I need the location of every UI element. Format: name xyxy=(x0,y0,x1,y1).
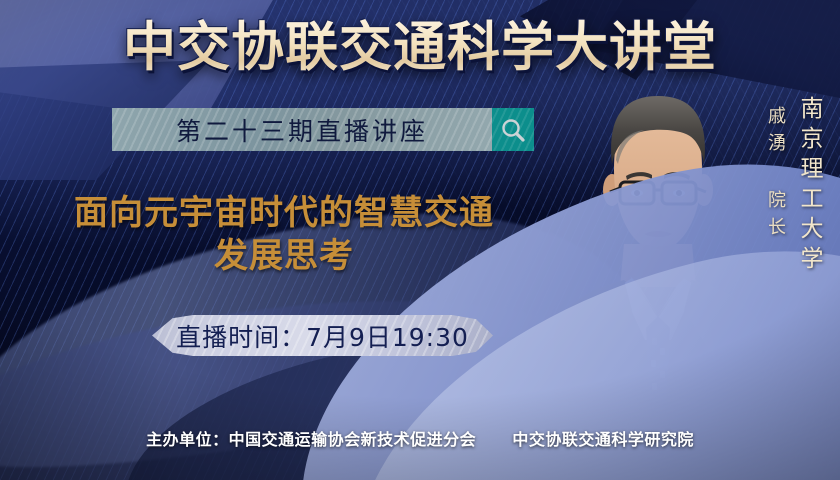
search-icon[interactable] xyxy=(492,108,534,151)
live-time-badge: 直播时间：7月9日19:30 xyxy=(152,315,493,356)
episode-banner-body: 第二十三期直播讲座 xyxy=(112,108,492,151)
episode-label: 第二十三期直播讲座 xyxy=(176,112,428,148)
organizer-primary: 主办单位：中国交通运输协会新技术促进分会 xyxy=(146,430,476,449)
lecture-title: 面向元宇宙时代的智慧交通 发展思考 xyxy=(24,192,544,278)
lecture-title-line2: 发展思考 xyxy=(24,235,544,278)
episode-banner: 第二十三期直播讲座 xyxy=(112,108,534,151)
page-title: 中交协联交通科学大讲堂 xyxy=(0,17,840,79)
live-time-text: 直播时间：7月9日19:30 xyxy=(176,318,469,354)
live-lecture-poster: 中交协联交通科学大讲堂 第二十三期直播讲座 面向元宇宙时代的智慧交通 发展思考 … xyxy=(0,0,840,480)
speaker-name-title: 戚湧 院长 xyxy=(762,106,788,244)
organizer-secondary: 中交协联交通科学研究院 xyxy=(512,430,694,449)
speaker-university: 南京理工大学 xyxy=(792,96,826,276)
lecture-title-line1: 面向元宇宙时代的智慧交通 xyxy=(74,193,494,233)
organizer-footer: 主办单位：中国交通运输协会新技术促进分会 中交协联交通科学研究院 xyxy=(0,426,840,450)
